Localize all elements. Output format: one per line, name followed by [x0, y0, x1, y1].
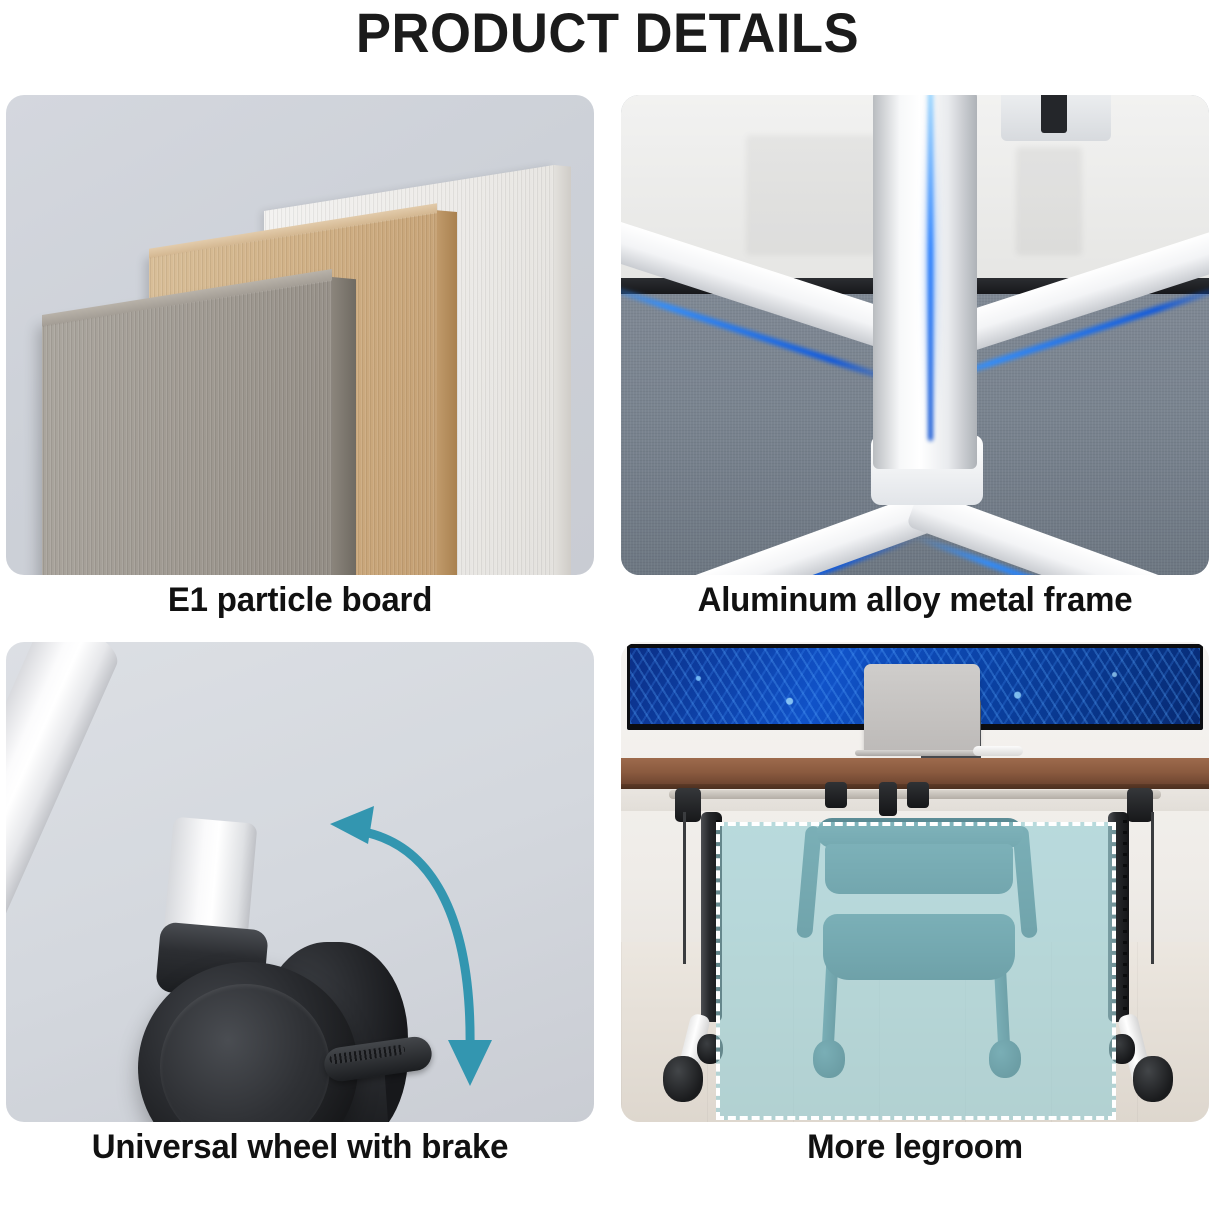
particle-board-image: [6, 95, 594, 575]
table-rod-left: [683, 812, 686, 964]
caption-universal-wheel: Universal wheel with brake: [15, 1128, 585, 1167]
leg-post-notches-right: [1123, 820, 1127, 1010]
caption-particle-board: E1 particle board: [15, 581, 585, 620]
white-board-edge: [554, 165, 571, 575]
caster-wheel-hubcap: [160, 984, 330, 1122]
table-rod-right: [1151, 812, 1154, 964]
laptop: [864, 664, 980, 752]
tabletop: [621, 758, 1209, 784]
curved-double-arrow-icon: [322, 782, 502, 1122]
mouse: [973, 746, 1023, 756]
caption-aluminum-frame: Aluminum alloy metal frame: [630, 581, 1200, 620]
aluminum-frame-image: [621, 95, 1209, 575]
gray-board-grain: [42, 280, 332, 575]
wood-board-edge: [437, 210, 457, 575]
table-caster-left: [663, 1056, 703, 1102]
legroom-highlight-area: [716, 822, 1116, 1120]
center-post-blue-line: [928, 95, 933, 441]
panel-aluminum-frame: Aluminum alloy metal frame: [621, 95, 1209, 620]
table-leg-upper: [6, 642, 125, 948]
universal-wheel-image: [6, 642, 594, 1122]
table-hinge-right: [907, 782, 929, 808]
panel-universal-wheel: Universal wheel with brake: [6, 642, 594, 1167]
more-legroom-image: [621, 642, 1209, 1122]
center-post: [873, 95, 977, 469]
panel-more-legroom: More legroom: [621, 642, 1209, 1167]
table-caster-right: [1133, 1056, 1173, 1102]
table-clip: [1001, 95, 1111, 141]
page-title: PRODUCT DETAILS: [36, 0, 1178, 64]
table-hinge-left: [825, 782, 847, 808]
wall-shadow-left: [746, 135, 876, 255]
laptop-base: [855, 750, 989, 756]
wall-shadow-right: [1016, 147, 1082, 255]
table-bracket-left: [675, 788, 701, 822]
gray-board: [42, 280, 332, 575]
caption-more-legroom: More legroom: [630, 1128, 1200, 1167]
gray-board-edge: [332, 277, 356, 575]
table-bracket-right: [1127, 788, 1153, 822]
panel-particle-board: E1 particle board: [6, 95, 594, 620]
product-details-grid: E1 particle board: [6, 95, 1209, 1195]
table-hinge-center: [879, 782, 897, 816]
